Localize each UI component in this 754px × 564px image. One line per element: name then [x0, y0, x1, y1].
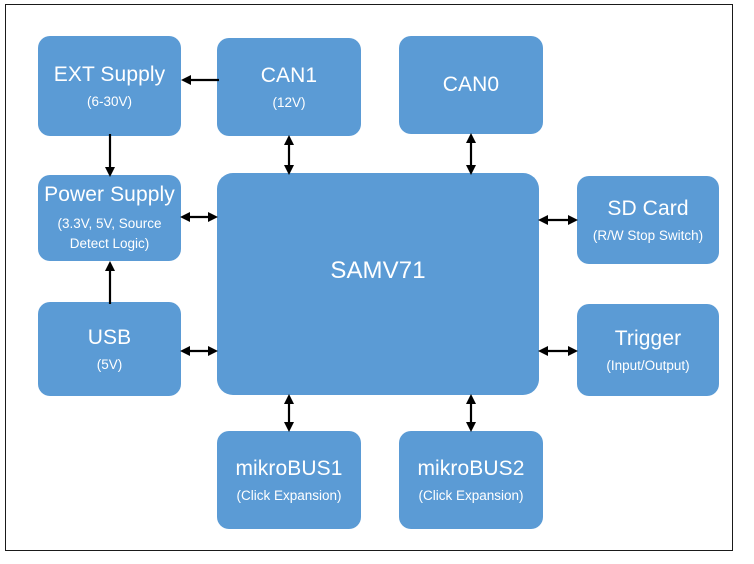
block-samv71-title: SAMV71	[330, 257, 425, 285]
block-can0[interactable]: CAN0	[399, 36, 543, 134]
block-mikrobus2-title: mikroBUS2	[417, 457, 524, 481]
block-can1-title: CAN1	[261, 64, 317, 88]
block-samv71[interactable]: SAMV71	[217, 173, 539, 395]
block-sd-card[interactable]: SD Card (R/W Stop Switch)	[577, 176, 719, 264]
arrow-usb-to-samv71	[179, 341, 219, 361]
block-usb-title: USB	[88, 326, 131, 350]
arrow-samv71-to-sd-card	[537, 210, 579, 230]
block-mikrobus2[interactable]: mikroBUS2 (Click Expansion)	[399, 431, 543, 529]
block-sd-card-title: SD Card	[607, 197, 688, 221]
arrow-power-supply-to-samv71	[179, 207, 219, 227]
block-power-supply[interactable]: Power Supply (3.3V, 5V, Source Detect Lo…	[38, 175, 181, 261]
arrow-can0-to-samv71	[461, 132, 481, 176]
arrow-can1-to-samv71	[279, 134, 299, 176]
block-ext-supply-subtitle: (6-30V)	[87, 94, 132, 110]
diagram-frame: EXT Supply (6-30V) CAN1 (12V) CAN0 Power…	[5, 4, 733, 551]
arrow-samv71-to-trigger	[537, 341, 579, 361]
block-power-supply-subtitle-line2: Detect Logic)	[57, 234, 161, 254]
block-trigger[interactable]: Trigger (Input/Output)	[577, 304, 719, 396]
block-trigger-subtitle: (Input/Output)	[606, 358, 689, 374]
arrow-usb-to-power-supply	[100, 259, 120, 304]
block-mikrobus1-title: mikroBUS1	[235, 457, 342, 481]
block-ext-supply-title: EXT Supply	[54, 63, 166, 87]
arrow-samv71-to-mikrobus2	[461, 393, 481, 433]
block-mikrobus1[interactable]: mikroBUS1 (Click Expansion)	[217, 431, 361, 529]
block-usb[interactable]: USB (5V)	[38, 302, 181, 396]
block-power-supply-subtitle-line1: (3.3V, 5V, Source	[57, 214, 161, 234]
block-sd-card-subtitle: (R/W Stop Switch)	[593, 228, 703, 244]
block-can1-subtitle: (12V)	[272, 95, 305, 111]
arrow-ext-supply-to-power-supply	[100, 134, 120, 178]
block-usb-subtitle: (5V)	[97, 357, 123, 373]
block-mikrobus2-subtitle: (Click Expansion)	[418, 488, 523, 504]
block-can0-title: CAN0	[443, 73, 499, 97]
arrow-can1-to-ext-supply	[179, 70, 219, 90]
block-ext-supply[interactable]: EXT Supply (6-30V)	[38, 36, 181, 136]
block-can1[interactable]: CAN1 (12V)	[217, 38, 361, 136]
block-power-supply-subtitle: (3.3V, 5V, Source Detect Logic)	[57, 214, 161, 253]
arrow-samv71-to-mikrobus1	[279, 393, 299, 433]
diagram-canvas: EXT Supply (6-30V) CAN1 (12V) CAN0 Power…	[0, 0, 754, 564]
block-power-supply-title: Power Supply	[44, 183, 175, 207]
block-trigger-title: Trigger	[615, 327, 681, 351]
block-mikrobus1-subtitle: (Click Expansion)	[236, 488, 341, 504]
